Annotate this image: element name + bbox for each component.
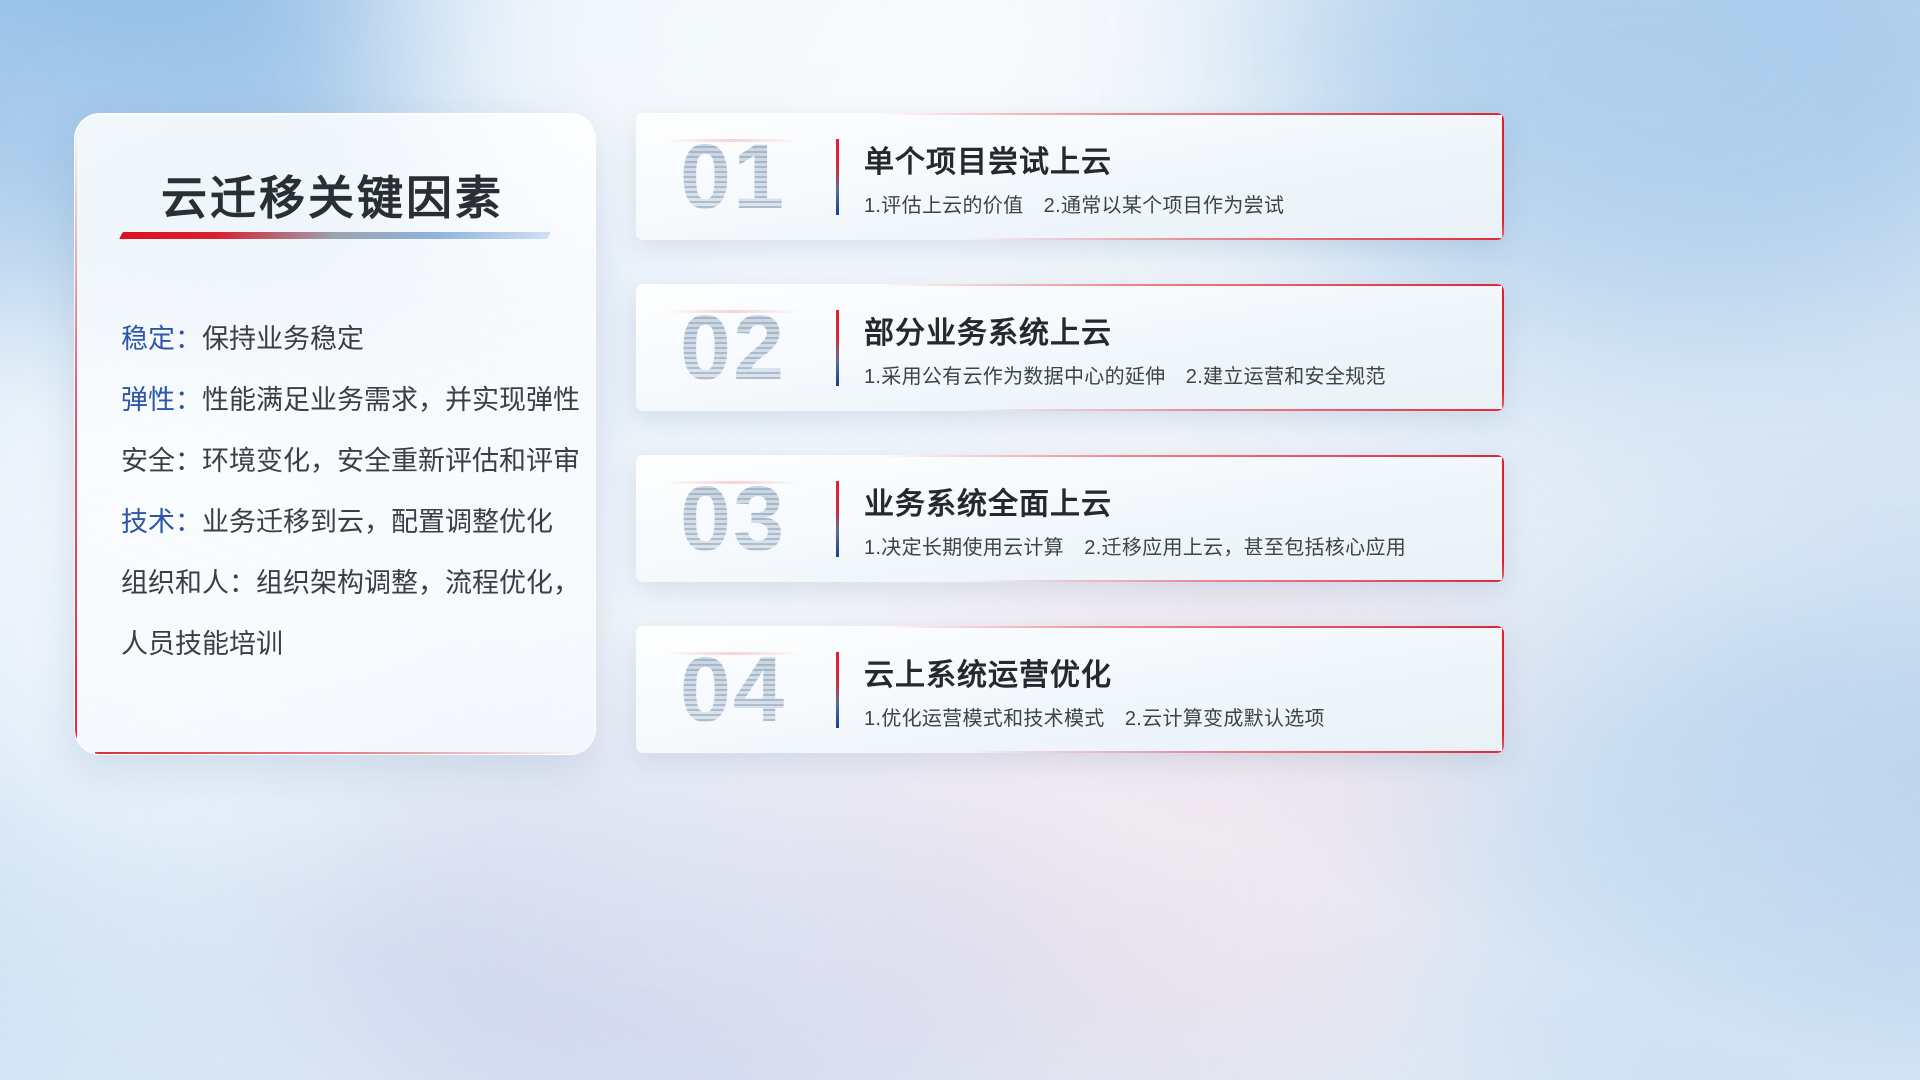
stage-number: 02 bbox=[658, 292, 808, 404]
card-divider-bar bbox=[836, 310, 839, 386]
card-description: 1.评估上云的价值 2.通常以某个项目作为尝试 bbox=[864, 189, 1284, 218]
title-underline-rule bbox=[119, 232, 551, 239]
factor-key: 组织和人： bbox=[121, 568, 256, 598]
factor-key: 技术： bbox=[121, 507, 202, 537]
page-title: 云迁移关键因素 bbox=[161, 162, 504, 228]
card-description: 1.决定长期使用云计算 2.迁移应用上云，甚至包括核心应用 bbox=[864, 531, 1406, 560]
factor-list: 稳定：保持业务稳定 弹性：性能满足业务需求，并实现弹性 安全：环境变化，安全重新… bbox=[121, 309, 565, 675]
card-top-accent bbox=[879, 455, 1504, 457]
stage-card[interactable]: 03 业务系统全面上云 1.决定长期使用云计算 2.迁移应用上云，甚至包括核心应… bbox=[636, 455, 1504, 582]
list-item: 安全：环境变化，安全重新评估和评审 bbox=[121, 431, 565, 492]
stage-card[interactable]: 01 单个项目尝试上云 1.评估上云的价值 2.通常以某个项目作为尝试 bbox=[636, 113, 1504, 240]
card-divider-bar bbox=[836, 481, 839, 557]
factor-text: 保持业务稳定 bbox=[202, 324, 364, 354]
factor-key: 稳定： bbox=[121, 324, 202, 354]
card-title: 单个项目尝试上云 bbox=[864, 137, 1112, 181]
card-bottom-accent bbox=[966, 238, 1504, 240]
factor-text: 组织架构调整，流程优化， bbox=[256, 568, 580, 598]
card-title: 云上系统运营优化 bbox=[864, 650, 1112, 694]
card-top-accent bbox=[879, 284, 1504, 286]
list-item: 人员技能培训 bbox=[121, 614, 565, 675]
factor-key: 弹性： bbox=[121, 385, 202, 415]
card-right-accent bbox=[1502, 626, 1504, 753]
card-divider-bar bbox=[836, 139, 839, 215]
factor-text: 环境变化，安全重新评估和评审 bbox=[202, 446, 580, 476]
factor-key: 安全： bbox=[121, 446, 202, 476]
card-right-accent bbox=[1502, 284, 1504, 411]
factor-text: 性能满足业务需求，并实现弹性 bbox=[202, 385, 580, 415]
list-item: 技术：业务迁移到云，配置调整优化 bbox=[121, 492, 565, 553]
panel-bottom-accent bbox=[95, 752, 581, 754]
card-right-accent bbox=[1502, 113, 1504, 240]
factor-text: 业务迁移到云，配置调整优化 bbox=[202, 507, 553, 537]
card-description: 1.采用公有云作为数据中心的延伸 2.建立运营和安全规范 bbox=[864, 360, 1386, 389]
card-description: 1.优化运营模式和技术模式 2.云计算变成默认选项 bbox=[864, 702, 1325, 731]
factor-text: 人员技能培训 bbox=[121, 629, 283, 659]
stage-number: 03 bbox=[658, 463, 808, 575]
list-item: 弹性：性能满足业务需求，并实现弹性 bbox=[121, 370, 565, 431]
card-divider-bar bbox=[836, 652, 839, 728]
stage-number: 01 bbox=[658, 121, 808, 233]
card-top-accent bbox=[879, 113, 1504, 115]
stage-number: 04 bbox=[658, 634, 808, 746]
card-title: 部分业务系统上云 bbox=[864, 308, 1112, 352]
list-item: 稳定：保持业务稳定 bbox=[121, 309, 565, 370]
card-right-accent bbox=[1502, 455, 1504, 582]
card-top-accent bbox=[879, 626, 1504, 628]
stage-card[interactable]: 04 云上系统运营优化 1.优化运营模式和技术模式 2.云计算变成默认选项 bbox=[636, 626, 1504, 753]
card-bottom-accent bbox=[966, 409, 1504, 411]
panel-left-accent bbox=[75, 128, 77, 740]
card-bottom-accent bbox=[966, 580, 1504, 582]
key-factors-panel: 云迁移关键因素 稳定：保持业务稳定 弹性：性能满足业务需求，并实现弹性 安全：环… bbox=[74, 113, 596, 755]
stage-card[interactable]: 02 部分业务系统上云 1.采用公有云作为数据中心的延伸 2.建立运营和安全规范 bbox=[636, 284, 1504, 411]
list-item: 组织和人：组织架构调整，流程优化， bbox=[121, 553, 565, 614]
card-bottom-accent bbox=[966, 751, 1504, 753]
card-title: 业务系统全面上云 bbox=[864, 479, 1112, 523]
stage-card-list: 01 单个项目尝试上云 1.评估上云的价值 2.通常以某个项目作为尝试 02 部… bbox=[636, 113, 1504, 797]
